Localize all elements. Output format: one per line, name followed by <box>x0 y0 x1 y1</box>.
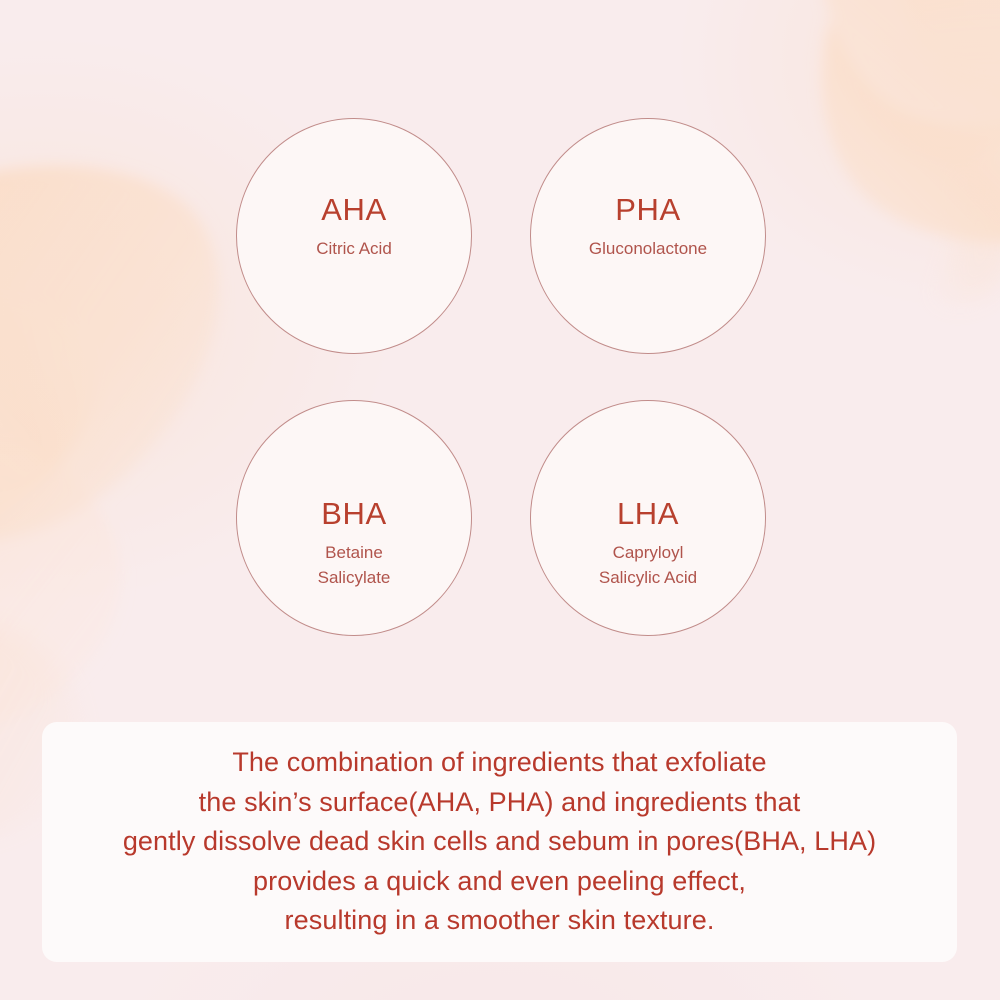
description-line: resulting in a smoother skin texture. <box>285 901 715 940</box>
description-line: provides a quick and even peeling effect… <box>253 862 746 901</box>
description-card: The combination of ingredients that exfo… <box>42 722 957 962</box>
acid-code-label: AHA <box>321 194 387 225</box>
acid-ingredient-line-1: Citric Acid <box>316 237 392 261</box>
ingredient-circle-lha: LHA Capryloyl Salicylic Acid <box>530 400 766 636</box>
acid-ingredient-line-1: Betaine <box>325 541 383 565</box>
ingredient-text-block: LHA Capryloyl Salicylic Acid <box>599 498 697 589</box>
description-line: The combination of ingredients that exfo… <box>232 743 766 782</box>
ingredient-circle-bha: BHA Betaine Salicylate <box>236 400 472 636</box>
ingredient-text-block: AHA Citric Acid <box>316 194 392 261</box>
ingredient-text-block: BHA Betaine Salicylate <box>318 498 391 589</box>
acid-ingredient-line-1: Capryloyl <box>613 541 684 565</box>
description-line: the skin’s surface(AHA, PHA) and ingredi… <box>199 783 801 822</box>
acid-code-label: PHA <box>615 194 681 225</box>
ingredient-circle-aha: AHA Citric Acid <box>236 118 472 354</box>
acid-code-label: BHA <box>321 498 387 529</box>
infographic-canvas: AHA Citric Acid PHA Gluconolactone BHA B… <box>0 0 1000 1000</box>
acid-ingredient-line-1: Gluconolactone <box>589 237 707 261</box>
ingredient-circle-pha: PHA Gluconolactone <box>530 118 766 354</box>
ingredient-text-block: PHA Gluconolactone <box>589 194 707 261</box>
acid-ingredient-line-2: Salicylic Acid <box>599 566 697 590</box>
acid-ingredient-line-2: Salicylate <box>318 566 391 590</box>
acid-code-label: LHA <box>617 498 679 529</box>
description-line: gently dissolve dead skin cells and sebu… <box>123 822 876 861</box>
